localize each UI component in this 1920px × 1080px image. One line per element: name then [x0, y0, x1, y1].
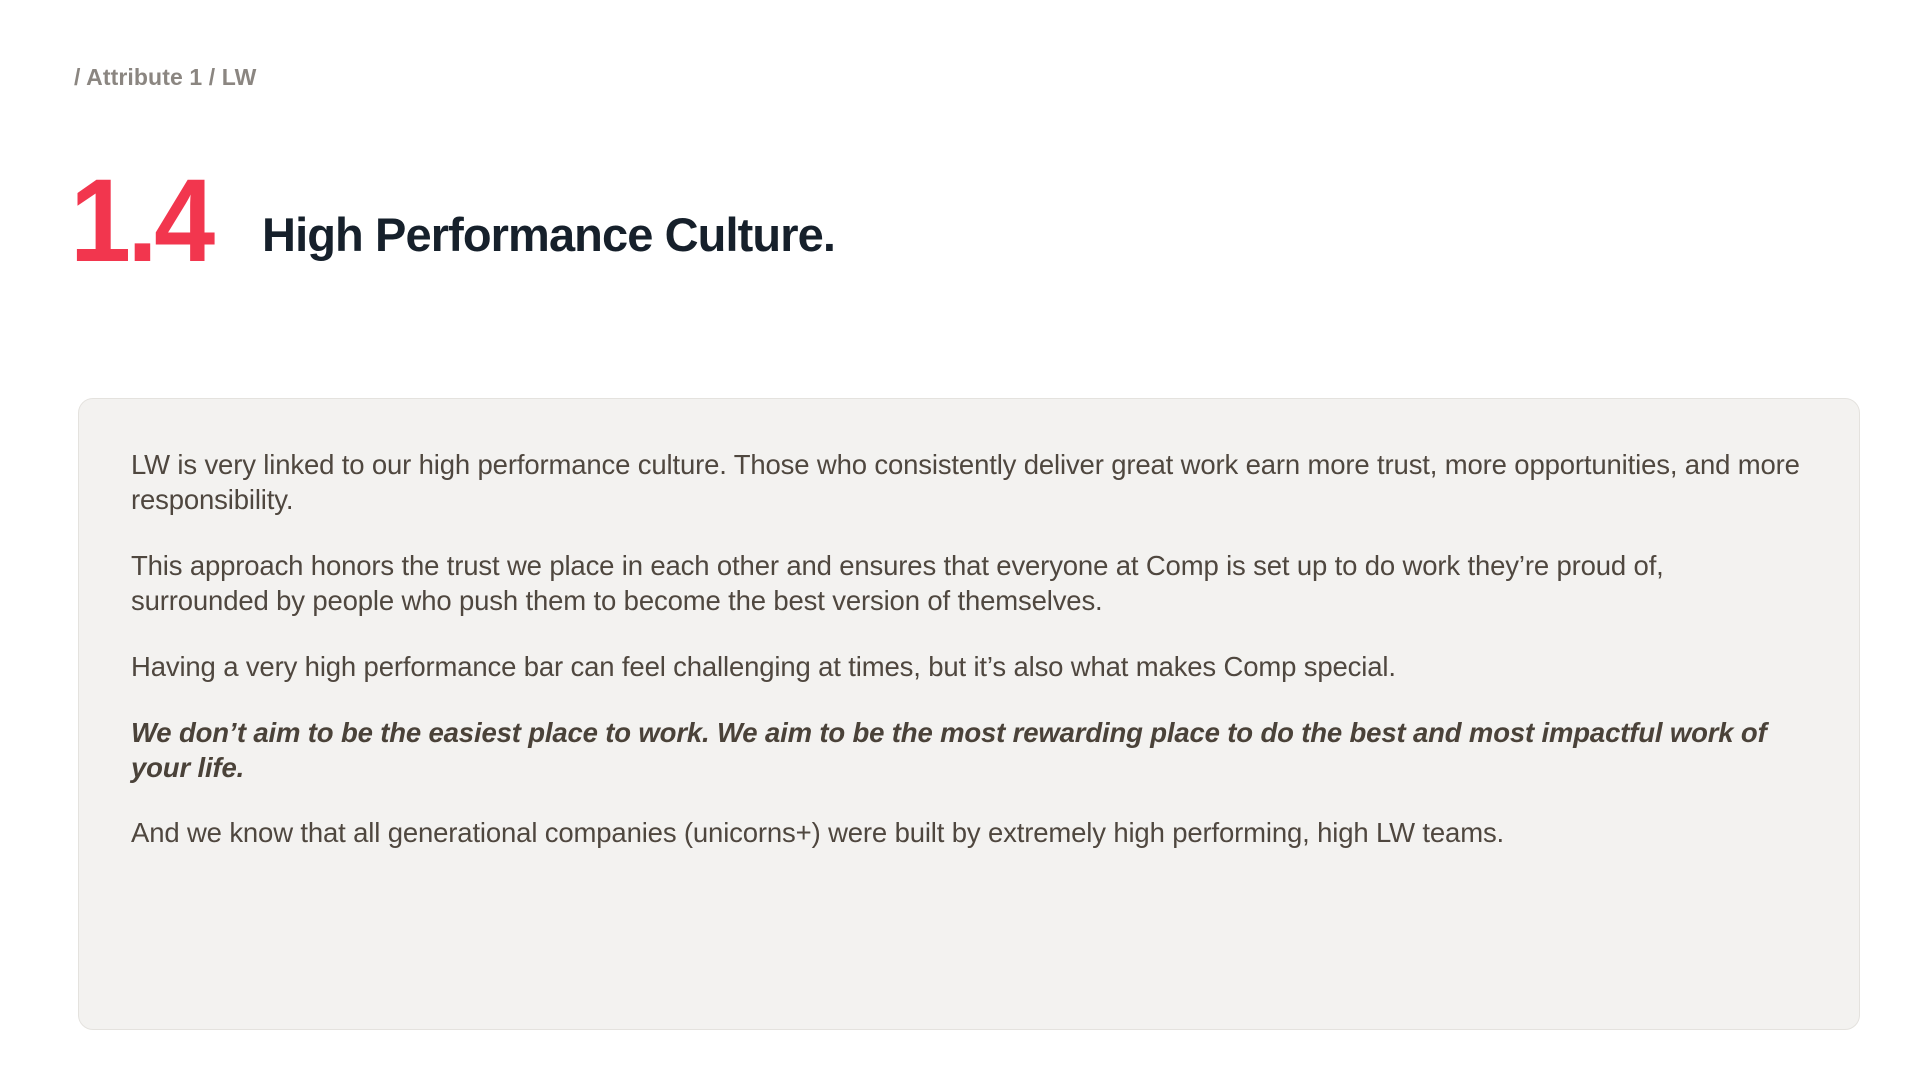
- slide-root: / Attribute 1 / LW 1.4 High Performance …: [0, 0, 1920, 1080]
- body-paragraph-1: LW is very linked to our high performanc…: [131, 448, 1807, 518]
- body-paragraph-5: And we know that all generational compan…: [131, 816, 1807, 851]
- page-title: 1.4 High Performance Culture.: [70, 150, 835, 270]
- body-paragraph-3: Having a very high performance bar can f…: [131, 650, 1807, 685]
- section-heading: High Performance Culture.: [262, 211, 835, 270]
- content-card: LW is very linked to our high performanc…: [78, 398, 1860, 1030]
- section-number: 1.4: [70, 173, 211, 270]
- body-paragraph-2: This approach honors the trust we place …: [131, 549, 1807, 619]
- breadcrumb: / Attribute 1 / LW: [74, 64, 256, 91]
- body-paragraph-emphasis: We don’t aim to be the easiest place to …: [131, 716, 1807, 786]
